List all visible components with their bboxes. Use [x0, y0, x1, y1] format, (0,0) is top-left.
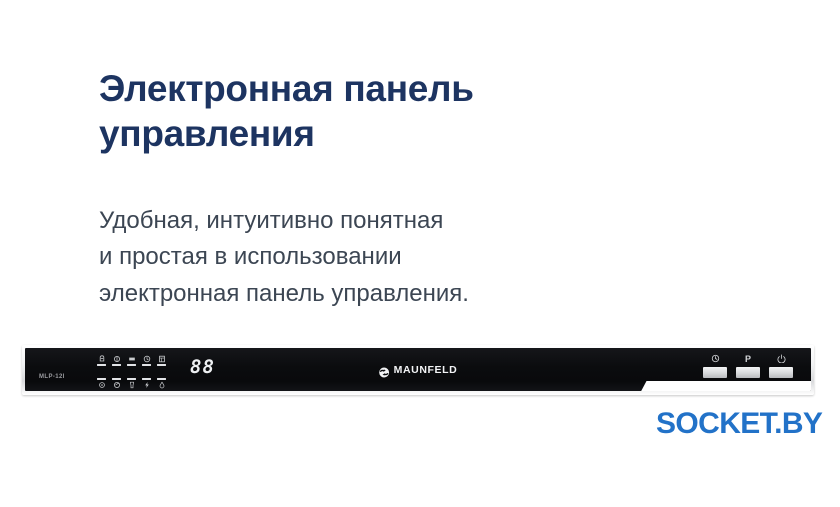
indicator-dash [112, 364, 121, 366]
indicator-half-load[interactable] [127, 355, 136, 372]
power-key[interactable] [769, 367, 793, 378]
indicator-dash [97, 364, 106, 366]
control-panel-frame: MLP-12I [22, 345, 814, 395]
indicator-dash [142, 378, 151, 380]
power-button[interactable] [769, 354, 793, 378]
glass-program-icon [128, 381, 136, 389]
control-panel: MLP-12I [22, 345, 814, 395]
indicator-rapid[interactable] [142, 372, 151, 389]
indicator-dash [142, 364, 151, 366]
delay-start-button[interactable] [703, 354, 727, 378]
indicator-glass[interactable] [127, 372, 136, 389]
indicator-eco[interactable] [112, 372, 121, 389]
indicator-dash [127, 378, 136, 380]
indicator-salt[interactable] [97, 355, 106, 372]
indicator-rinse-aid[interactable] [112, 355, 121, 372]
delay-start-key[interactable] [703, 367, 727, 378]
power-icon [777, 354, 786, 365]
brand-name: MAUNFELD [394, 364, 458, 376]
rinse-aid-indicator-icon [113, 355, 121, 363]
indicator-dash [97, 378, 106, 380]
indicator-dash [112, 378, 121, 380]
brand-logo: MAUNFELD [379, 364, 458, 376]
rapid-program-icon [143, 381, 151, 389]
intensive-program-icon [98, 381, 106, 389]
control-panel-face: MLP-12I [25, 348, 811, 391]
indicator-row-top [97, 355, 173, 372]
seven-segment-display: 88 [190, 358, 215, 377]
indicator-extra-dry[interactable] [157, 355, 166, 372]
button-group: P [703, 354, 793, 378]
salt-indicator-icon [98, 355, 106, 363]
indicator-delay-timer[interactable] [142, 355, 151, 372]
model-number-label: MLP-12I [39, 374, 65, 380]
delay-start-icon [711, 354, 720, 365]
indicator-soak[interactable] [157, 372, 166, 389]
half-load-indicator-icon [128, 355, 136, 363]
site-watermark: SOCKET.BY [656, 407, 822, 441]
page-title: Электронная панель управления [99, 66, 659, 156]
indicator-dash [127, 364, 136, 366]
soak-program-icon [158, 381, 166, 389]
indicator-dash [157, 364, 166, 366]
delay-timer-indicator-icon [143, 355, 151, 363]
program-button[interactable]: P [736, 354, 760, 378]
program-key[interactable] [736, 367, 760, 378]
indicator-dash [157, 378, 166, 380]
extra-dry-indicator-icon [158, 355, 166, 363]
indicator-intensive[interactable] [97, 372, 106, 389]
eco-program-icon [113, 381, 121, 389]
maunfeld-emblem-icon [379, 365, 390, 376]
page-description: Удобная, интуитивно понятная и простая в… [99, 203, 699, 312]
program-icon: P [745, 354, 751, 365]
indicator-cluster [97, 355, 173, 391]
indicator-row-bottom [97, 372, 173, 389]
